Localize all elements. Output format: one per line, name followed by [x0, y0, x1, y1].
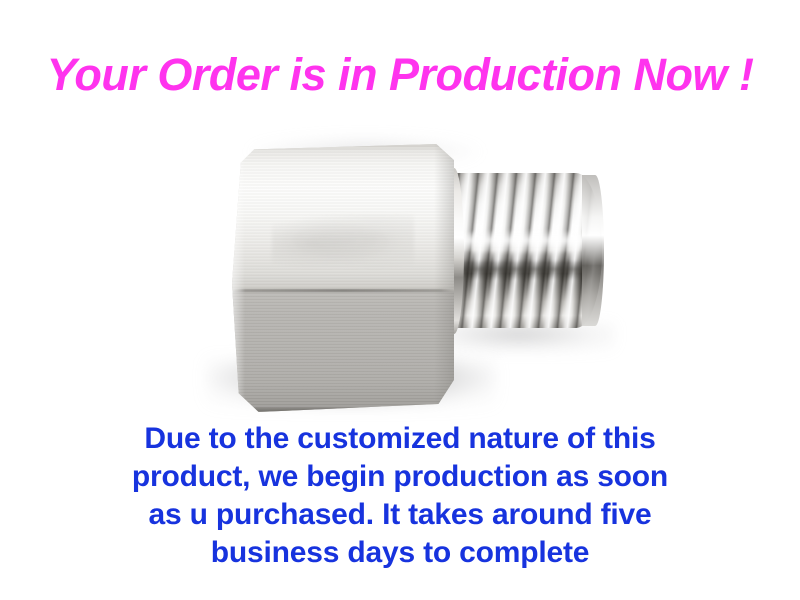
production-notice: Due to the customized nature of this pro…: [0, 420, 800, 572]
thread-groove-band: [448, 260, 592, 280]
hex-facet-edge: [232, 289, 454, 292]
notice-line-2: product, we begin production as soon: [0, 458, 800, 496]
page-title: Your Order is in Production Now !: [0, 49, 800, 101]
hex-brushed-texture: [232, 144, 454, 412]
thread-end-cap: [582, 175, 604, 326]
product-photo: [0, 110, 800, 420]
notice-line-1: Due to the customized nature of this: [0, 420, 800, 458]
hex-bottom-outline: [234, 408, 452, 412]
notice-line-3: as u purchased. It takes around five: [0, 496, 800, 534]
hex-surface-scuffs: [272, 214, 414, 273]
notice-line-4: business days to complete: [0, 534, 800, 572]
hex-right-chamfer: [434, 144, 454, 412]
thread-highlight: [444, 229, 602, 254]
male-threaded-nipple: [444, 173, 602, 328]
hex-nut-body: [232, 144, 454, 412]
promo-banner: Your Order is in Production Now !: [0, 0, 800, 600]
